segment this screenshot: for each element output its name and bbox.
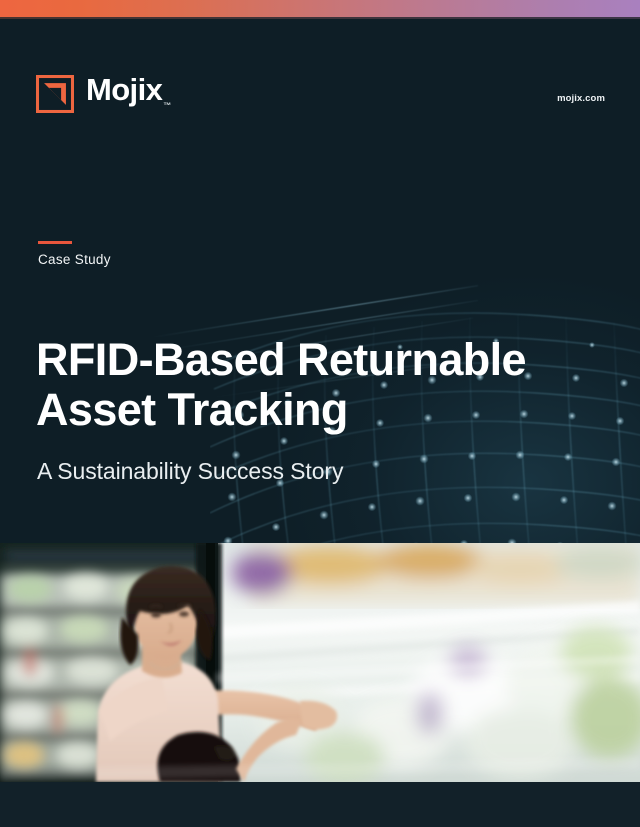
site-url-link[interactable]: mojix.com (557, 93, 605, 104)
mesh-streak (152, 285, 478, 338)
mojix-logo-mark-icon (36, 75, 74, 113)
brand-wordmark: Mojix™ (86, 71, 170, 117)
cover-photo (0, 543, 640, 782)
case-study-cover-page: Mojix™ mojix.com Case Study RFID-Based R… (0, 0, 640, 827)
brand-name-text: Mojix (86, 72, 162, 107)
page-subtitle: A Sustainability Success Story (37, 456, 343, 486)
footer-strip (0, 782, 640, 827)
brand-logo[interactable]: Mojix™ (36, 71, 170, 117)
hero-section: Mojix™ mojix.com Case Study RFID-Based R… (0, 19, 640, 543)
eyebrow-accent-rule (38, 241, 72, 244)
page-title: RFID-Based Returnable Asset Tracking (36, 335, 596, 435)
trademark-icon: ™ (163, 101, 170, 110)
cover-photo-artwork (0, 543, 640, 782)
top-gradient-bar (0, 0, 640, 17)
eyebrow-label: Case Study (38, 252, 111, 267)
